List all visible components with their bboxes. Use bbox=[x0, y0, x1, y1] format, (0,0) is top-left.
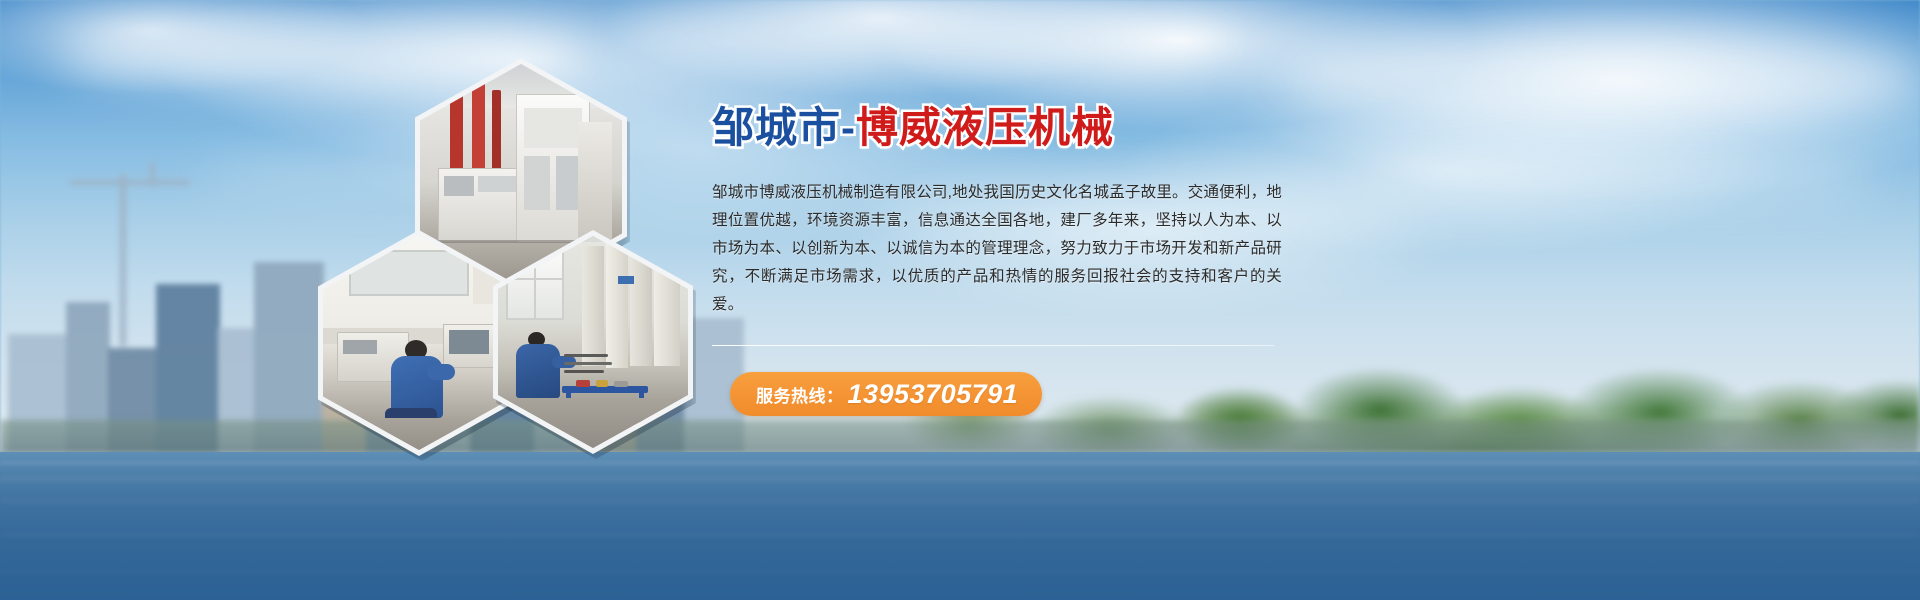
hotline-label: 服务热线： bbox=[756, 382, 844, 407]
company-description: 邹城市博威液压机械制造有限公司,地处我国历史文化名城孟子故里。交通便利，地理位置… bbox=[712, 179, 1282, 319]
cloud-band bbox=[1360, 150, 1880, 210]
photo-laboratory-testing bbox=[323, 236, 515, 450]
company-title: 邹城市-博威液压机械 bbox=[712, 104, 1282, 151]
section-divider bbox=[712, 345, 1274, 346]
hotline-badge[interactable]: 服务热线： 13953705791 bbox=[730, 372, 1042, 416]
company-title-brand: 博威液压机械 bbox=[856, 104, 1114, 151]
hotline-number: 13953705791 bbox=[848, 379, 1019, 410]
photo-hexagon-cluster bbox=[300, 55, 700, 445]
cloud-band bbox=[1280, 30, 1920, 126]
company-title-region: 邹城市- bbox=[712, 104, 856, 151]
cloud-band bbox=[620, 0, 1220, 80]
photo-hydraulic-test-bench bbox=[498, 236, 688, 448]
water-surface bbox=[0, 452, 1920, 600]
banner-text-panel: 邹城市-博威液压机械 邹城市博威液压机械制造有限公司,地处我国历史文化名城孟子故… bbox=[712, 104, 1282, 416]
hexagon-photo-lab-inner bbox=[323, 236, 515, 450]
hexagon-photo-bench-inner bbox=[498, 236, 688, 448]
